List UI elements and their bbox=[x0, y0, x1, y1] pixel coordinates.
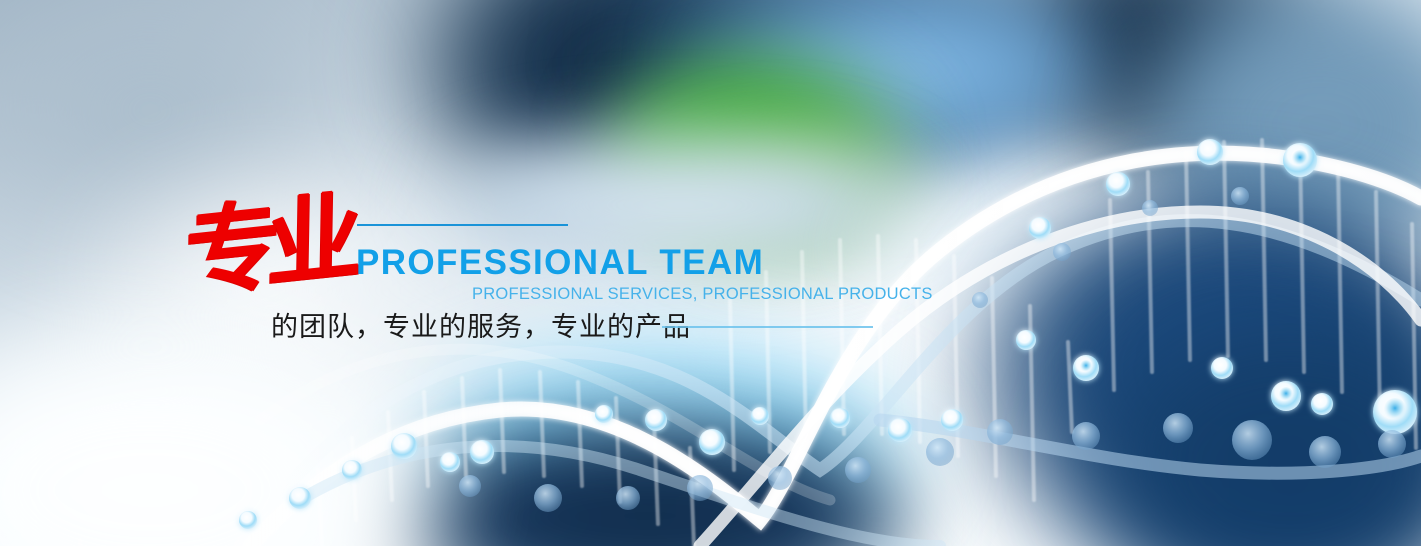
subheadline-professional-services-products: PROFESSIONAL SERVICES, PROFESSIONAL PROD… bbox=[472, 285, 933, 304]
banner-content: 专业 PROFESSIONAL TEAM PROFESSIONAL SERVIC… bbox=[0, 0, 1421, 546]
headline-professional-team: PROFESSIONAL TEAM bbox=[356, 243, 764, 283]
top-divider-rule bbox=[357, 224, 568, 226]
professional-team-banner: 专业 PROFESSIONAL TEAM PROFESSIONAL SERVIC… bbox=[0, 0, 1421, 546]
bottom-divider-rule bbox=[662, 326, 873, 328]
chinese-tagline: 的团队，专业的服务，专业的产品 bbox=[271, 305, 691, 344]
